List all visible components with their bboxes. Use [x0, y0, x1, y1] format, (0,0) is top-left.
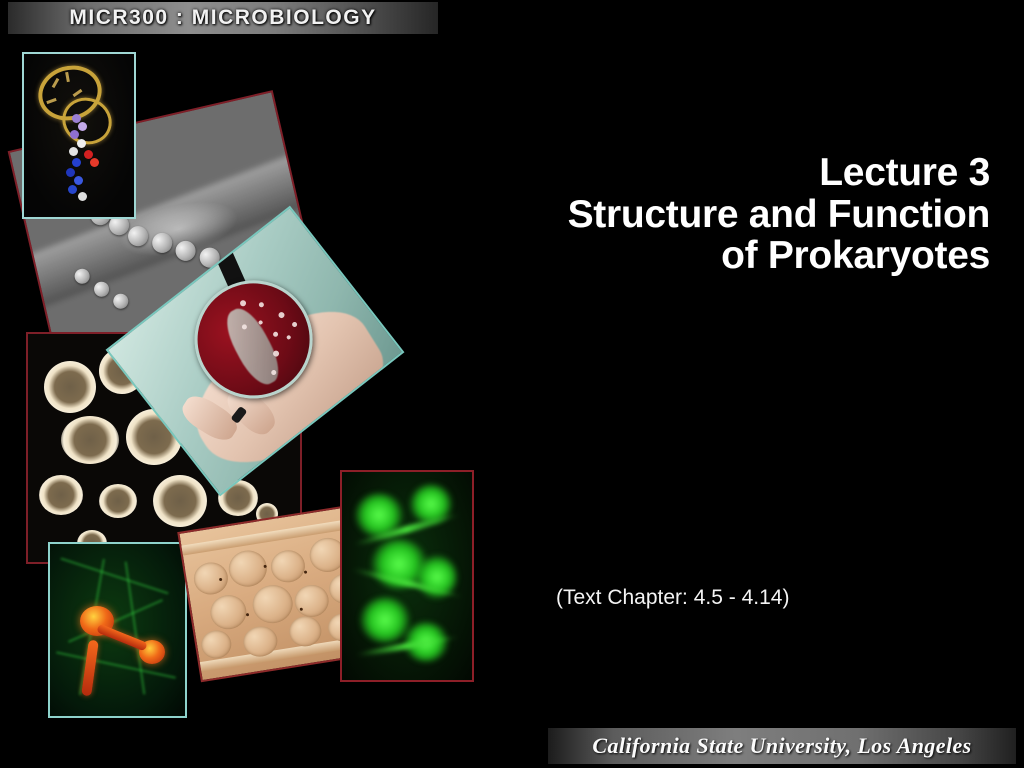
dna-bead — [77, 139, 86, 148]
bacterial-growth — [218, 302, 287, 390]
cell — [199, 628, 233, 660]
dna-bead — [90, 158, 99, 167]
cell — [249, 582, 294, 626]
fluorescent-region — [360, 597, 410, 643]
colony — [258, 302, 265, 309]
colony — [39, 475, 83, 515]
cell-dot — [246, 613, 249, 616]
cell-appendage — [96, 624, 148, 652]
sem-cell — [112, 292, 130, 310]
cell — [293, 583, 332, 620]
green-fluorescence-cell — [48, 542, 187, 718]
presentation-slide: MICR300 : MICROBIOLOGY Lecture 3 Structu… — [0, 0, 1024, 768]
image-collage — [0, 30, 500, 710]
colony — [153, 475, 207, 527]
cell — [226, 548, 269, 590]
cell-dot — [299, 607, 302, 610]
colony — [61, 416, 119, 464]
fluor-filament — [61, 557, 169, 594]
dna-bead — [74, 176, 83, 185]
slide-title: Lecture 3 Structure and Function of Prok… — [370, 152, 990, 277]
cell-dot — [304, 571, 307, 574]
course-title: MICR300 : MICROBIOLOGY — [69, 6, 376, 30]
title-line-3: of Prokaryotes — [370, 235, 990, 277]
colony — [286, 334, 292, 340]
course-header-bar: MICR300 : MICROBIOLOGY — [8, 2, 438, 34]
dna-molecular-model — [22, 52, 136, 219]
colony — [291, 321, 298, 328]
dna-bead — [72, 158, 81, 167]
title-line-1: Lecture 3 — [370, 152, 990, 194]
cell — [269, 547, 308, 584]
title-line-2: Structure and Function — [370, 194, 990, 236]
colony — [277, 311, 285, 319]
university-footer-bar: California State University, Los Angeles — [548, 728, 1016, 764]
dna-bead — [66, 168, 75, 177]
gfp-micrograph — [340, 470, 474, 682]
colony — [44, 361, 96, 413]
university-name: California State University, Los Angeles — [592, 733, 971, 759]
dna-bead — [69, 147, 78, 156]
cell-appendage — [81, 640, 99, 697]
colony — [239, 299, 247, 307]
colony — [99, 484, 137, 518]
colony — [272, 330, 279, 337]
dna-bead — [78, 192, 87, 201]
dna-bead — [78, 122, 87, 131]
dna-bead — [68, 185, 77, 194]
cell — [208, 593, 249, 632]
dna-bead — [70, 130, 79, 139]
text-chapter-reference: (Text Chapter: 4.5 - 4.14) — [556, 586, 789, 610]
cell — [192, 560, 231, 597]
